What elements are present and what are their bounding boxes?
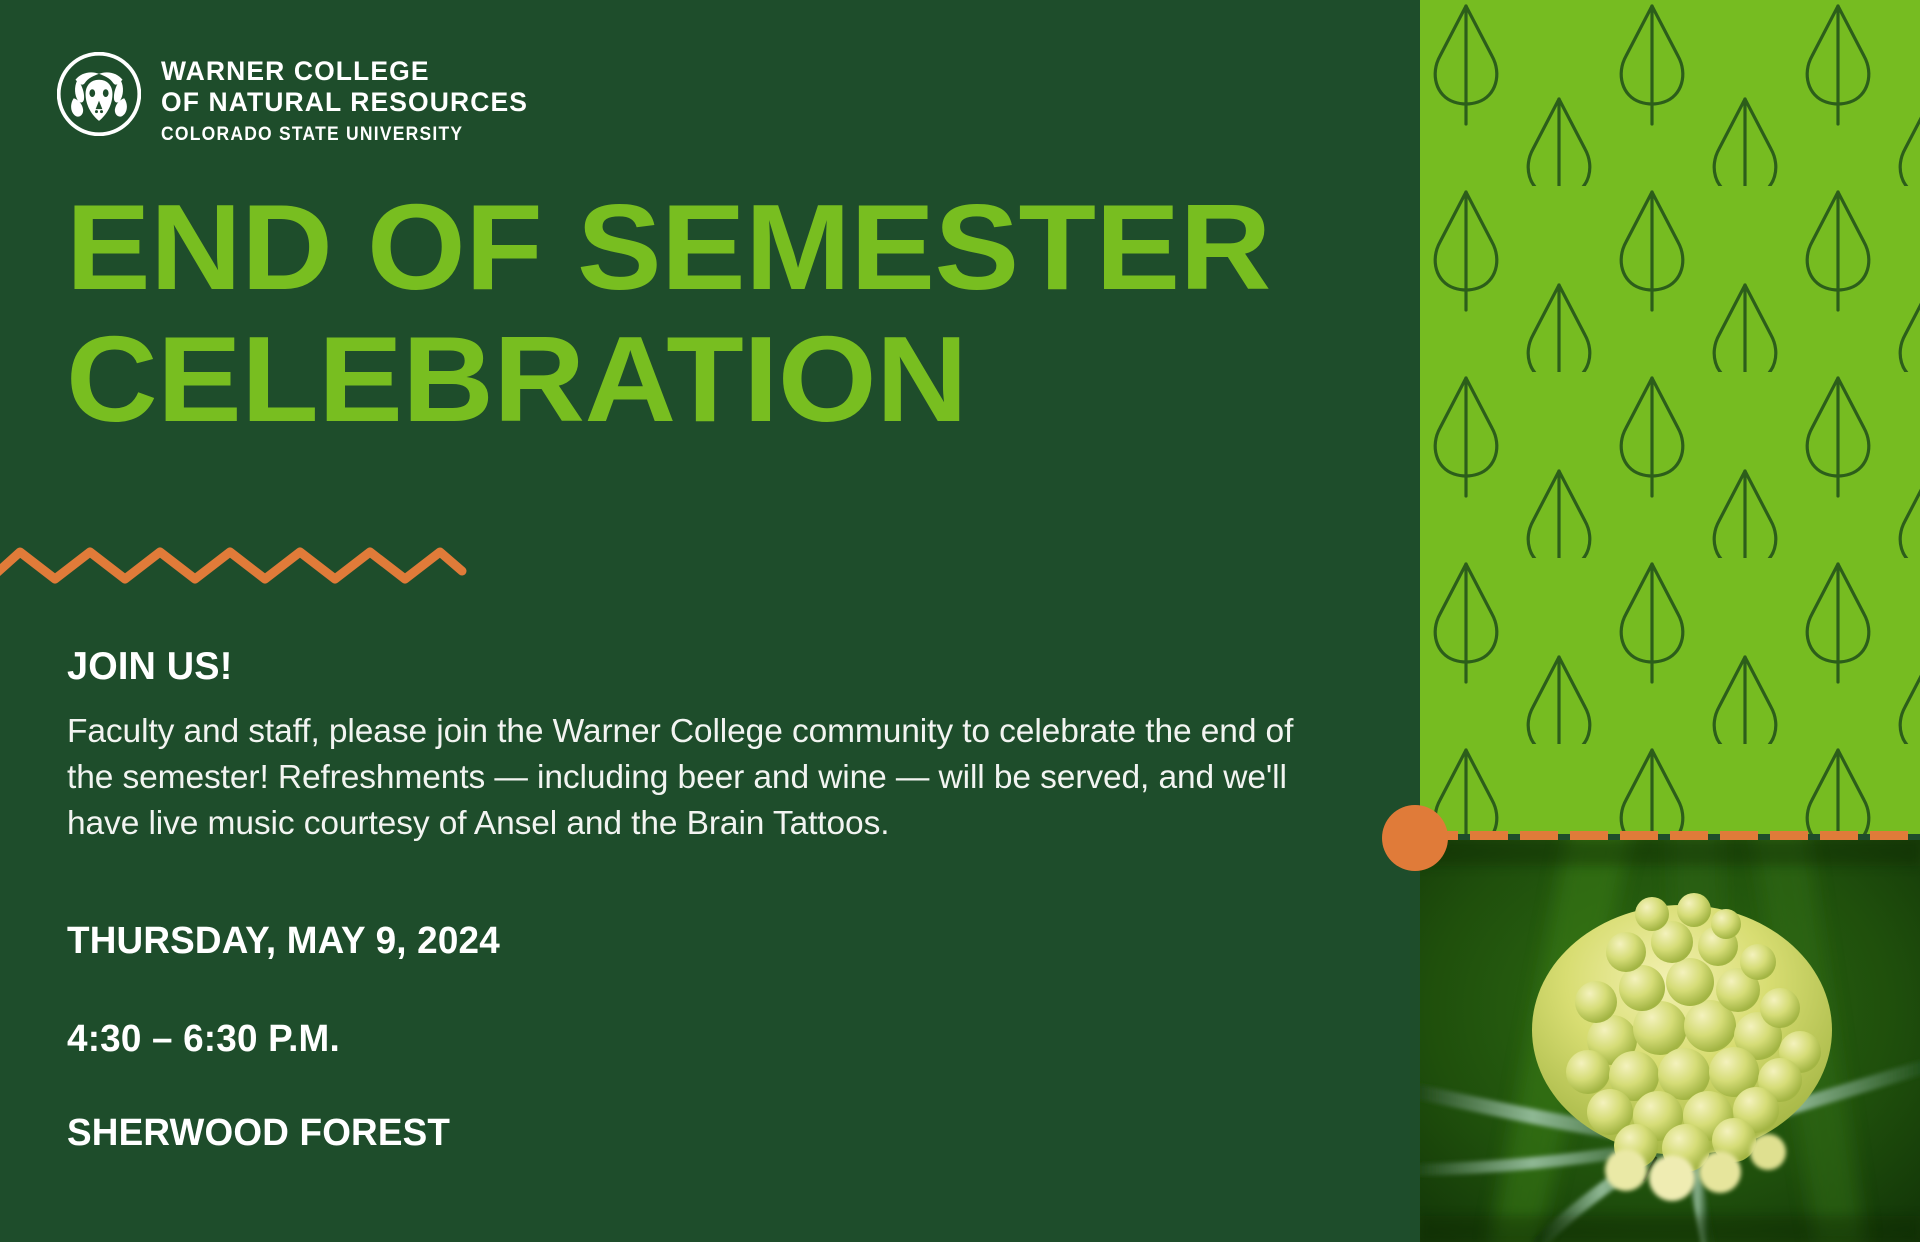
event-time: 4:30 – 6:30 P.M. [67,1018,340,1061]
zigzag-divider [0,539,470,591]
brand-wordmark: WARNER COLLEGE OF NATURAL RESOURCES COLO… [161,50,528,150]
event-location: SHERWOOD FOREST [67,1112,450,1155]
poster-headline: END OF SEMESTER CELEBRATION [66,188,1386,439]
brand-lockup: WARNER COLLEGE OF NATURAL RESOURCES COLO… [57,50,528,150]
orange-circle-accent [1382,805,1448,871]
poster-right-column [1420,0,1920,1242]
join-us-kicker: JOIN US! [67,645,1328,689]
brand-line-2: OF NATURAL RESOURCES [161,87,528,118]
headline-line-2: CELEBRATION [66,320,1439,438]
brand-line-1: WARNER COLLEGE [161,56,528,87]
brand-line-3: COLORADO STATE UNIVERSITY [161,121,499,150]
orange-dashed-rule [1420,831,1920,840]
event-date: THURSDAY, MAY 9, 2024 [67,920,500,963]
event-description: Faculty and staff, please join the Warne… [67,709,1337,848]
leaf-pattern-panel [1420,0,1920,834]
headline-line-1: END OF SEMESTER [66,188,1439,306]
poster-left-column: WARNER COLLEGE OF NATURAL RESOURCES COLO… [0,0,1420,1242]
poster-body: JOIN US! Faculty and staff, please join … [67,645,1367,848]
csu-ram-icon [57,52,141,136]
flower-bud-macro-photo [1420,840,1920,1242]
event-poster: WARNER COLLEGE OF NATURAL RESOURCES COLO… [0,0,1920,1242]
